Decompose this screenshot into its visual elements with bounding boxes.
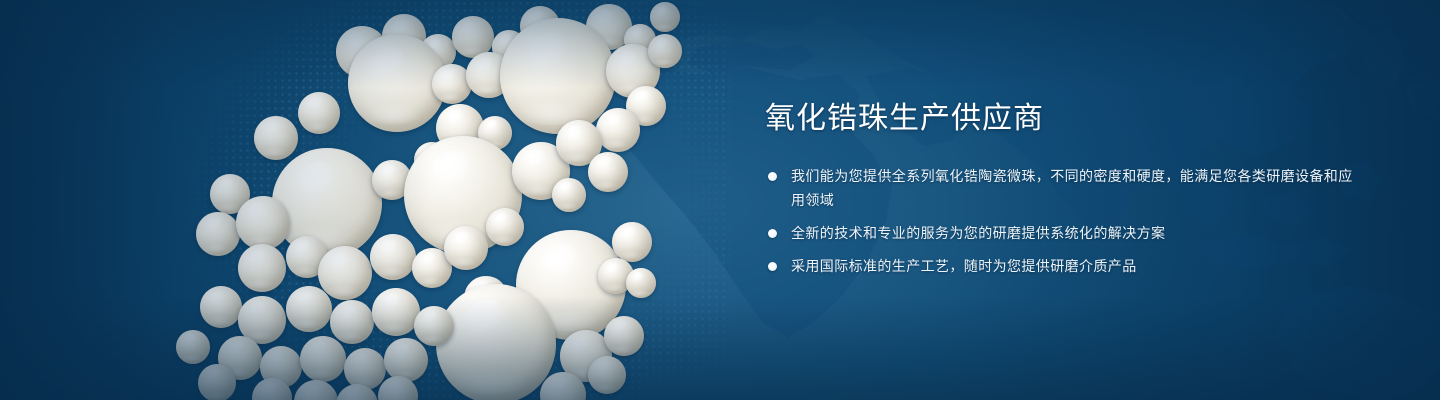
list-item: 采用国际标准的生产工艺，随时为您提供研磨介质产品 — [765, 254, 1365, 278]
hero-banner: 氧化锆珠生产供应商 我们能为您提供全系列氧化锆陶瓷微珠，不同的密度和硬度，能满足… — [0, 0, 1440, 400]
list-item: 我们能为您提供全系列氧化锆陶瓷微珠，不同的密度和硬度，能满足您各类研磨设备和应用… — [765, 164, 1365, 212]
list-item-label: 采用国际标准的生产工艺，随时为您提供研磨介质产品 — [791, 258, 1137, 274]
bullet-dot-icon — [768, 172, 777, 181]
page-title: 氧化锆珠生产供应商 — [765, 100, 1365, 138]
list-item-label: 我们能为您提供全系列氧化锆陶瓷微珠，不同的密度和硬度，能满足您各类研磨设备和应用… — [791, 168, 1353, 208]
bullet-dot-icon — [768, 229, 777, 238]
list-item: 全新的技术和专业的服务为您的研磨提供系统化的解决方案 — [765, 221, 1365, 245]
banner-copy: 氧化锆珠生产供应商 我们能为您提供全系列氧化锆陶瓷微珠，不同的密度和硬度，能满足… — [765, 100, 1365, 278]
feature-list: 我们能为您提供全系列氧化锆陶瓷微珠，不同的密度和硬度，能满足您各类研磨设备和应用… — [765, 164, 1365, 278]
bullet-dot-icon — [768, 262, 777, 271]
list-item-label: 全新的技术和专业的服务为您的研磨提供系统化的解决方案 — [791, 225, 1165, 241]
